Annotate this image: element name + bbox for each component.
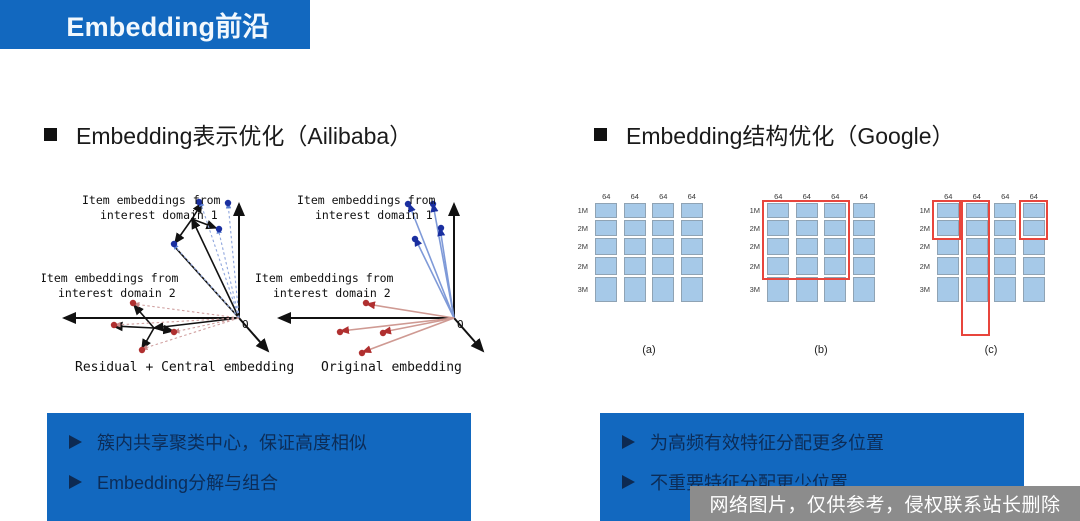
embedding-cell [624,277,646,302]
row-label: 2M [908,224,934,233]
col-header: 64 [592,192,621,201]
embedding-cell [994,257,1016,275]
embedding-cell [624,238,646,255]
row-label: 3M [908,285,934,294]
row-cells [934,203,1048,218]
embedding-cell [681,238,703,255]
grid-rows: 1M 2M 2M [566,203,706,304]
col-header: 64 [821,192,850,201]
grid-panel-b: 64 64 64 64 1M 2M [738,192,878,364]
col-header: 64 [621,192,650,201]
embedding-cell [652,257,674,275]
fig-left-label-domain2-a: Item embeddings from [42,271,179,285]
grid-row: 2M [908,257,1048,275]
row-label: 2M [566,242,592,251]
embedding-cell [853,220,875,236]
row-cells [764,257,878,275]
svg-text:O: O [457,318,464,331]
row-cells [934,238,1048,255]
fig-right-label-domain2-b: interest domain 2 [273,286,391,300]
section-heading-left: Embedding表示优化（Ailibaba） [44,117,412,151]
section-heading-right-label: Embedding结构优化（Google） [626,117,955,151]
grid-row: 1M [738,203,878,218]
fig-right-label-domain1-b: interest domain 1 [315,208,433,222]
embedding-cell [966,238,988,255]
embedding-cell [824,220,846,236]
embedding-cell [767,257,789,275]
fig-left-label-domain2-b: interest domain 2 [58,286,176,300]
col-header: 64 [678,192,707,201]
embedding-cell [681,277,703,302]
summary-box-left: 簇内共享聚类中心，保证高度相似 Embedding分解与组合 [47,413,471,521]
embedding-cell [681,257,703,275]
row-label: 2M [738,224,764,233]
embedding-cell [824,277,846,302]
embedding-cell [796,203,818,218]
grid-row: 3M [738,277,878,302]
embedding-cell [994,238,1016,255]
embedding-cell [966,220,988,236]
grid-row: 2M [738,257,878,275]
row-cells [592,203,706,218]
embedding-cell [966,257,988,275]
embedding-cell [624,203,646,218]
row-label: 2M [738,262,764,271]
embedding-cell [994,277,1016,302]
grid-rows: 1M 2M 2M [738,203,878,304]
embedding-cell [966,203,988,218]
fig-right-label-domain2-a: Item embeddings from [255,271,394,285]
embedding-cell [796,277,818,302]
row-cells [592,220,706,236]
square-bullet-icon [44,128,57,141]
square-bullet-icon [594,128,607,141]
col-header: 64 [991,192,1020,201]
row-label: 2M [908,242,934,251]
row-cells [592,257,706,275]
grid-panel-c: 64 64 64 64 1M 2M [908,192,1048,364]
embedding-cell [767,277,789,302]
embedding-cell [937,238,959,255]
embedding-cell [853,257,875,275]
embedding-cell [796,238,818,255]
grid-row: 2M [738,220,878,236]
panel-caption-b: (b) [764,344,878,356]
embedding-cell [994,203,1016,218]
row-cells [764,203,878,218]
embedding-cell [767,238,789,255]
row-label: 2M [908,262,934,271]
row-cells [764,220,878,236]
svg-text:O: O [242,318,249,331]
embedding-cell [652,238,674,255]
embedding-cell [652,203,674,218]
col-header: 64 [793,192,822,201]
section-heading-right: Embedding结构优化（Google） [594,117,955,151]
page-title: Embedding前沿 [40,5,269,44]
embedding-cell [595,257,617,275]
col-header: 64 [963,192,992,201]
grid-row: 1M [908,203,1048,218]
col-header: 64 [649,192,678,201]
grid-row: 1M [566,203,706,218]
embedding-cell [1023,238,1045,255]
row-cells [764,238,878,255]
fig-left-caption-a: Residual + Central embedding [75,360,294,375]
row-label: 2M [566,224,592,233]
row-cells [764,277,878,302]
summary-bullet: 簇内共享聚类中心，保证高度相似 [69,429,471,455]
col-header: 64 [1020,192,1049,201]
fig-left-label-domain1-a: Item embeddings from [82,193,221,207]
embedding-cell [595,203,617,218]
grid-row: 2M [566,257,706,275]
grid-row: 2M [738,238,878,255]
fig-left-label-domain1-b: interest domain 1 [100,208,218,222]
embedding-cell [624,257,646,275]
arrow-right-icon [69,435,82,449]
row-label: 2M [566,262,592,271]
embedding-cell [796,257,818,275]
embedding-cell [767,203,789,218]
embedding-cell [652,277,674,302]
embedding-cell [1023,277,1045,302]
panel-caption-c: (c) [934,344,1048,356]
fig-right-label-domain1-a: Item embeddings from [297,193,436,207]
watermark-text: 网络图片，仅供参考，侵权联系站长删除 [709,490,1060,517]
row-cells [592,238,706,255]
embedding-cell [681,203,703,218]
embedding-cell [1023,220,1045,236]
row-label: 1M [566,206,592,215]
vector-diagram-svg: O [42,186,512,376]
summary-bullet: Embedding分解与组合 [69,469,471,495]
figure-embedding-grids: 64 64 64 64 1M 2M [566,192,1066,364]
row-cells [934,277,1048,302]
summary-bullet-label: Embedding分解与组合 [97,469,278,495]
embedding-cell [937,277,959,302]
row-cells [592,277,706,302]
panel-caption-a: (a) [592,344,706,356]
arrow-right-icon [622,475,635,489]
arrow-right-icon [622,435,635,449]
grid-row: 3M [908,277,1048,302]
figure-embedding-vectors: O [42,186,512,376]
grid-column-headers: 64 64 64 64 [764,192,878,201]
summary-bullet-label: 为高频有效特征分配更多位置 [650,429,884,455]
grid-row: 2M [908,238,1048,255]
col-header: 64 [850,192,879,201]
grid-row: 2M [908,220,1048,236]
embedding-cell [937,257,959,275]
watermark-banner: 网络图片，仅供参考，侵权联系站长删除 [690,486,1080,521]
grid-row: 3M [566,277,706,302]
grid-column-headers: 64 64 64 64 [934,192,1048,201]
row-cells [934,257,1048,275]
embedding-cell [824,238,846,255]
embedding-cell [853,277,875,302]
grid-row: 2M [566,238,706,255]
row-label: 3M [738,285,764,294]
col-header: 64 [934,192,963,201]
embedding-cell [853,203,875,218]
summary-bullet-label: 簇内共享聚类中心，保证高度相似 [97,429,367,455]
section-heading-left-label: Embedding表示优化（Ailibaba） [76,117,412,151]
embedding-cell [767,220,789,236]
row-label: 2M [738,242,764,251]
embedding-cell [824,257,846,275]
embedding-cell [1023,203,1045,218]
grid-column-headers: 64 64 64 64 [592,192,706,201]
slide-title-banner: Embedding前沿 [0,0,310,49]
embedding-cell [652,220,674,236]
embedding-cell [824,203,846,218]
fig-left-caption-b: Original embedding [321,360,462,375]
embedding-cell [937,203,959,218]
summary-bullet: 为高频有效特征分配更多位置 [622,429,1024,455]
embedding-cell [624,220,646,236]
embedding-cell [853,238,875,255]
embedding-cell [796,220,818,236]
embedding-cell [994,220,1016,236]
grid-panel-a: 64 64 64 64 1M 2M [566,192,706,364]
row-label: 3M [566,285,592,294]
col-header: 64 [764,192,793,201]
grid-row: 2M [566,220,706,236]
embedding-cell [595,277,617,302]
grid-rows: 1M 2M 2M [908,203,1048,304]
embedding-cell [966,277,988,302]
embedding-cell [595,220,617,236]
row-cells [934,220,1048,236]
embedding-cell [681,220,703,236]
arrow-right-icon [69,475,82,489]
row-label: 1M [908,206,934,215]
embedding-cell [937,220,959,236]
row-label: 1M [738,206,764,215]
embedding-cell [1023,257,1045,275]
embedding-cell [595,238,617,255]
